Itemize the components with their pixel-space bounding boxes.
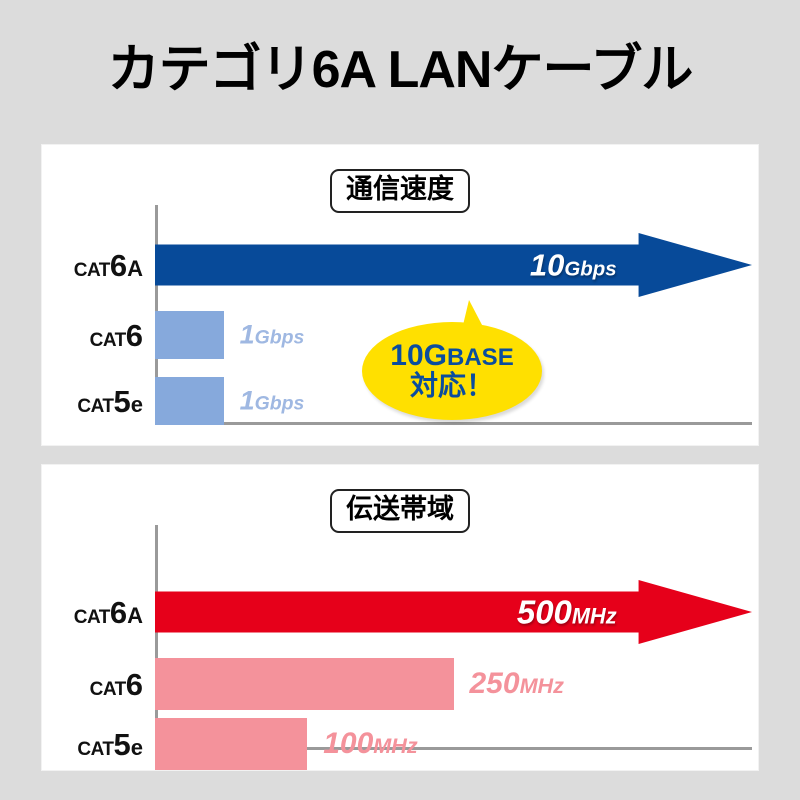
cat-prefix-text: CAT <box>74 260 110 281</box>
category-label-cat6a-speed: CAT6A <box>74 250 143 281</box>
cat-suffix-text: e <box>131 392 143 417</box>
cat-number-text: 6 <box>126 318 143 353</box>
bar-value-cat5e-speed: 1Gbps <box>240 388 305 415</box>
chart-row-cat6a-band: CAT6A 500MHz <box>155 580 752 644</box>
bar-cat6a-speed <box>155 233 752 297</box>
bar-value-number: 1 <box>240 320 255 350</box>
panel-transmission-bandwidth: 伝送帯域 CAT6A 500MHz CAT6 250MHz <box>42 465 758 770</box>
category-label-cat5e-band: CAT5e <box>77 729 143 760</box>
cat-number-text: 5 <box>114 384 131 419</box>
callout-bubble: 10GBASE 対応！ <box>362 322 542 420</box>
bar-value-number: 500 <box>517 594 572 631</box>
plot-area-band: CAT6A 500MHz CAT6 250MHz CAT5e <box>155 525 752 750</box>
bar-value-number: 1 <box>240 386 255 416</box>
cat-prefix-text: CAT <box>90 679 126 700</box>
bar-value-cat6a-band: 500MHz <box>517 596 617 629</box>
category-label-cat6a-band: CAT6A <box>74 597 143 628</box>
chart-row-cat6a-speed: CAT6A 10Gbps <box>155 233 752 297</box>
cat-prefix-text: CAT <box>77 396 113 417</box>
bar-cat5e-speed: 1Gbps <box>155 377 224 425</box>
page-title: カテゴリ6A LANケーブル <box>0 42 800 99</box>
category-label-cat6-band: CAT6 <box>90 669 143 700</box>
chart-row-cat5e-band: CAT5e 100MHz <box>155 718 752 770</box>
callout-line1-big: 10G <box>390 339 447 372</box>
bar-value-number: 10 <box>530 248 564 283</box>
bar-value-unit: Gbps <box>564 258 616 281</box>
bar-value-unit: MHz <box>572 604 617 629</box>
bar-value-unit: MHz <box>373 733 417 758</box>
category-label-cat5e-speed: CAT5e <box>77 386 143 417</box>
bar-value-unit: Gbps <box>255 327 305 349</box>
bar-cat6a-band <box>155 580 752 644</box>
bar-value-unit: MHz <box>520 673 564 698</box>
bar-value-number: 250 <box>470 667 520 700</box>
cat-prefix-text: CAT <box>74 607 110 628</box>
cat-prefix-text: CAT <box>90 330 126 351</box>
callout-line-1: 10GBASE <box>390 340 513 372</box>
cat-number-text: 5 <box>114 727 131 762</box>
bar-value-cat6a-speed: 10Gbps <box>530 250 617 281</box>
bar-cat6-speed: 1Gbps <box>155 311 224 359</box>
bar-value-cat6-speed: 1Gbps <box>240 322 305 349</box>
cat-number-text: 6 <box>110 595 127 630</box>
bar-value-cat5e-band: 100MHz <box>323 729 417 759</box>
cat-suffix-text: e <box>131 735 143 760</box>
cat-number-text: 6 <box>110 248 127 283</box>
bar-value-cat6-band: 250MHz <box>470 669 564 699</box>
callout-line1-small: BASE <box>447 344 514 371</box>
cat-suffix-text: A <box>127 603 143 628</box>
cat-prefix-text: CAT <box>77 739 113 760</box>
callout-10gbase: 10GBASE 対応！ <box>362 300 542 420</box>
category-label-cat6-speed: CAT6 <box>90 320 143 351</box>
bar-cat5e-band: 100MHz <box>155 718 307 770</box>
chart-row-cat6-band: CAT6 250MHz <box>155 658 752 710</box>
bar-value-unit: Gbps <box>255 393 305 415</box>
bar-value-number: 100 <box>323 727 373 760</box>
bar-cat6-band: 250MHz <box>155 658 454 710</box>
cat-number-text: 6 <box>126 667 143 702</box>
cat-suffix-text: A <box>127 256 143 281</box>
callout-line-2: 対応！ <box>410 371 494 402</box>
